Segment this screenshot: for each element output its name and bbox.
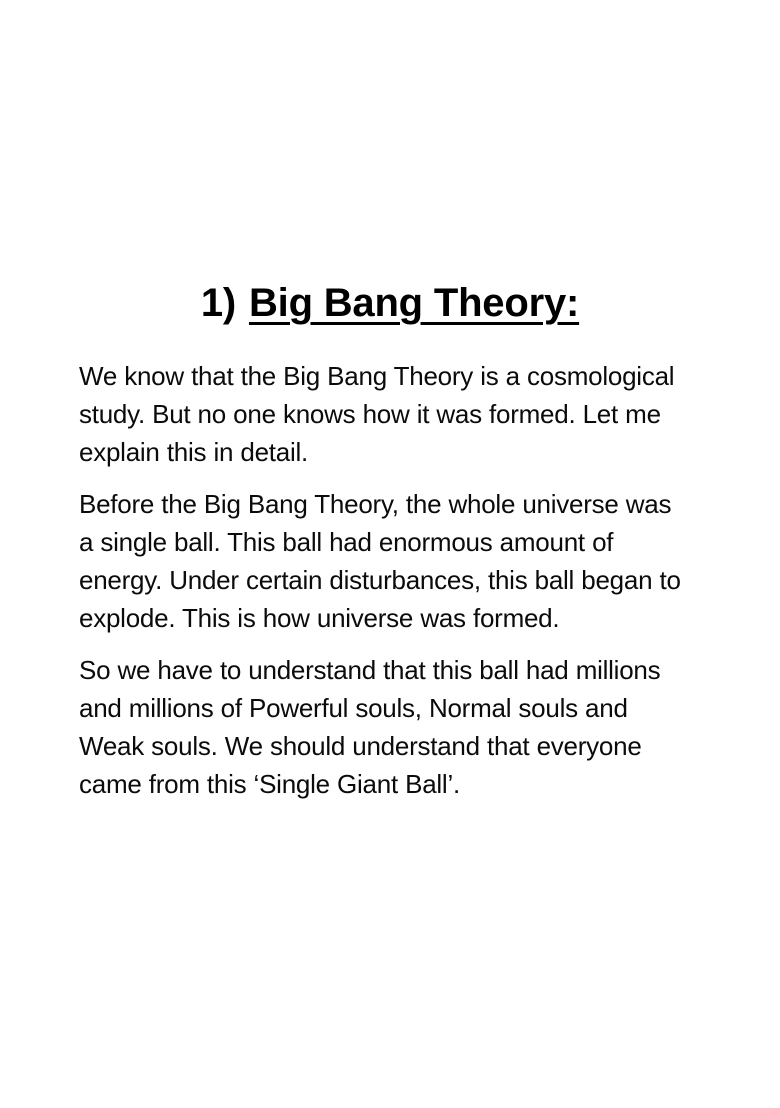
body-text-block: We know that the Big Bang Theory is a co… (79, 357, 687, 803)
heading-number: 1) (201, 281, 238, 325)
page-title: 1) Big Bang Theory: (0, 280, 780, 327)
paragraph-intro: We know that the Big Bang Theory is a co… (79, 357, 687, 471)
paragraph-before-big-bang: Before the Big Bang Theory, the whole un… (79, 485, 687, 637)
heading-title: Big Bang Theory: (249, 281, 579, 325)
paragraph-souls: So we have to understand that this ball … (79, 651, 687, 803)
document-page: 1) Big Bang Theory: We know that the Big… (0, 0, 780, 1108)
